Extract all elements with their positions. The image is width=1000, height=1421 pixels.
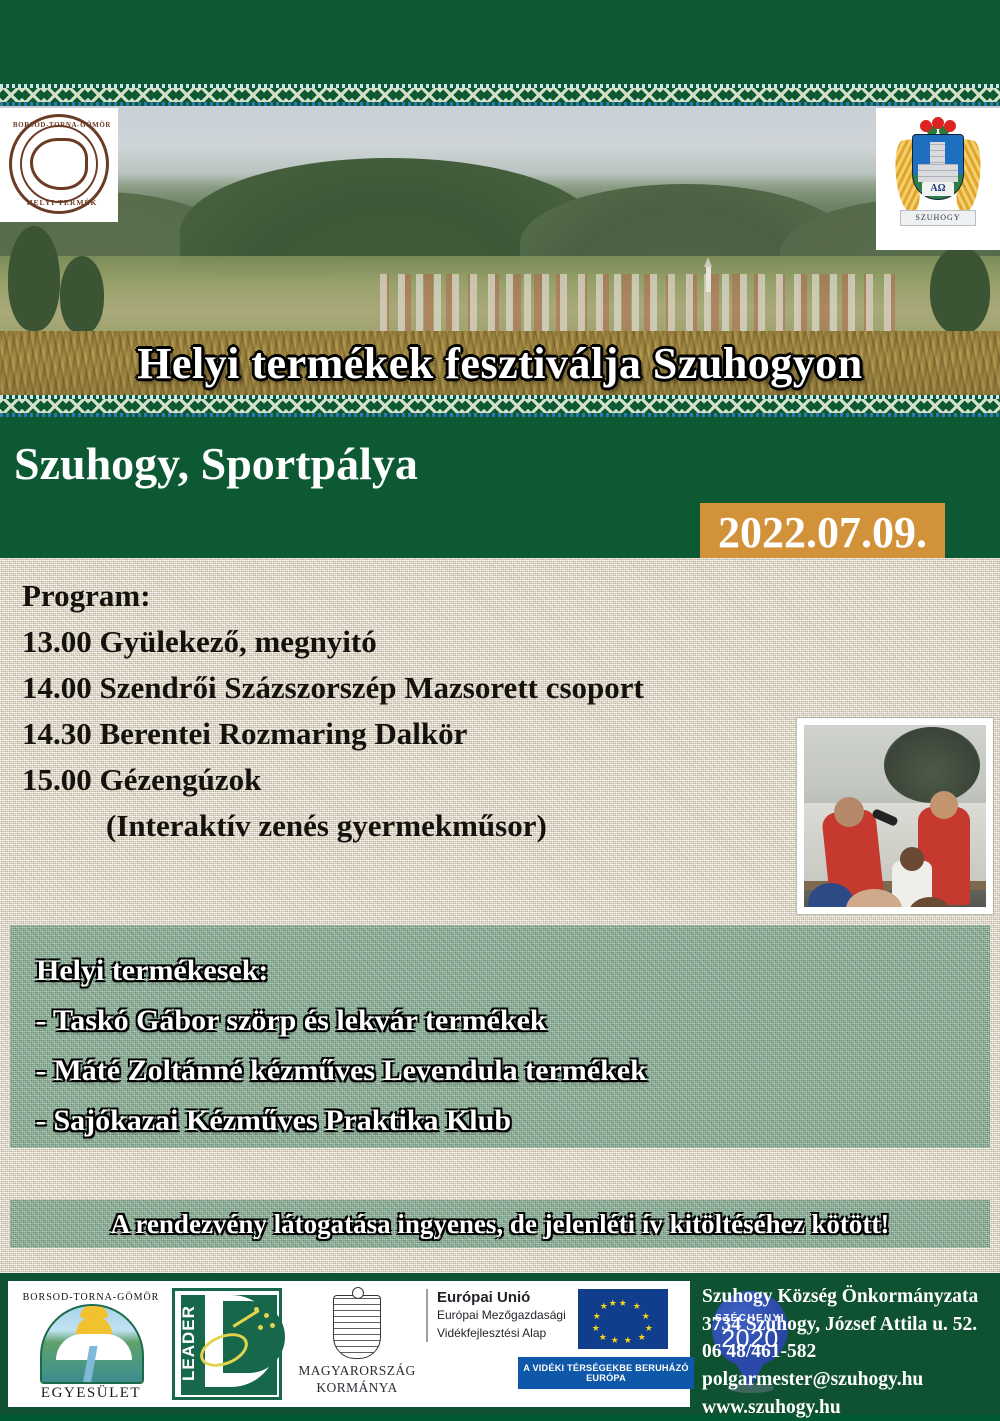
hungary-government-logo: MAGYARORSZÁG KORMÁNYA bbox=[298, 1289, 416, 1399]
seal-bottom-text: HELYI TERMÉK bbox=[12, 198, 112, 207]
eu-line1: Európai Unió bbox=[437, 1289, 566, 1306]
eu-banner-text: A VIDÉKI TÉRSÉGEKBE BERUHÁZÓ EURÓPA bbox=[518, 1357, 694, 1389]
eu-funding-logo: Európai Unió Európai Mezőgazdasági Vidék… bbox=[426, 1289, 694, 1399]
poster-title-band: Helyi termékek fesztiválja Szuhogyon bbox=[0, 331, 1000, 395]
venue-name: Szuhogy, Sportpálya bbox=[14, 437, 418, 490]
btg-name: EGYESÜLET bbox=[16, 1385, 166, 1402]
seal-figure-icon bbox=[30, 138, 88, 190]
eu-line2: Európai Mezőgazdasági bbox=[437, 1306, 566, 1324]
performance-photo bbox=[797, 718, 993, 914]
alpha-omega-book-icon: ΑΩ bbox=[922, 182, 954, 196]
contact-website[interactable]: www.szuhogy.hu bbox=[702, 1394, 994, 1421]
page-title: Helyi termékek fesztiválja Szuhogyon bbox=[137, 338, 863, 389]
program-item: 13.00 Gyülekező, megnyitó bbox=[22, 622, 1000, 662]
event-date-badge: 2022.07.09. bbox=[700, 503, 945, 566]
hungary-gov-line2: KORMÁNYA bbox=[298, 1380, 416, 1397]
leader-wordmark: LEADER bbox=[179, 1297, 201, 1389]
szechenyi-word: SZÉCHENYI bbox=[704, 1313, 796, 1324]
producers-heading: Helyi termékesek: bbox=[36, 951, 990, 991]
program-item: 14.00 Szendrői Százszorszép Mazsorett cs… bbox=[22, 668, 1000, 708]
hungary-gov-line1: MAGYARORSZÁG bbox=[298, 1363, 416, 1380]
producer-item: - Taskó Gábor szörp és lekvár termékek bbox=[36, 1001, 990, 1041]
folk-border-under-title bbox=[0, 395, 1000, 417]
contact-email[interactable]: polgarmester@szuhogy.hu bbox=[702, 1366, 994, 1394]
seal-top-text: BORSOD-TORNA-GÖMÖR bbox=[12, 121, 112, 129]
hungarian-crest-icon bbox=[333, 1295, 381, 1359]
footer-logo-strip: BORSOD-TORNA-GÖMÖR EGYESÜLET LEADER MAG bbox=[8, 1281, 690, 1407]
program-heading: Program: bbox=[22, 576, 1000, 616]
eu-flag-icon: ★ ★ ★ ★ ★ ★ ★ ★ ★ ★ ★ ★ bbox=[578, 1289, 668, 1349]
top-green-margin bbox=[0, 0, 1000, 84]
eu-line3: Vidékfejlesztési Alap bbox=[437, 1324, 566, 1342]
footer: BORSOD-TORNA-GÖMÖR EGYESÜLET LEADER MAG bbox=[0, 1273, 1000, 1415]
leader-logo: LEADER bbox=[172, 1288, 282, 1400]
szuhogy-coat-of-arms: ΑΩ SZUHOGY bbox=[876, 108, 1000, 250]
szechenyi-year: 2020 bbox=[704, 1325, 796, 1354]
venue-band: Szuhogy, Sportpálya 2022.07.09. bbox=[0, 417, 1000, 558]
folk-border-top bbox=[0, 84, 1000, 106]
coat-of-arms-icon: ΑΩ SZUHOGY bbox=[894, 114, 982, 238]
producer-item: - Máté Zoltánné kézműves Levendula termé… bbox=[36, 1051, 990, 1091]
btg-egyesulet-logo: BORSOD-TORNA-GÖMÖR EGYESÜLET bbox=[16, 1288, 166, 1400]
village-landscape-photo bbox=[0, 106, 1000, 331]
producer-item: - Sajókazai Kézműves Praktika Klub bbox=[36, 1101, 990, 1141]
contact-organization: Szuhogy Község Önkormányzata bbox=[702, 1283, 994, 1311]
event-date: 2022.07.09. bbox=[718, 508, 927, 557]
admission-notice-text: A rendezvény látogatása ingyenes, de jel… bbox=[111, 1209, 890, 1240]
admission-notice-band: A rendezvény látogatása ingyenes, de jel… bbox=[10, 1200, 990, 1248]
coat-of-arms-ribbon: SZUHOGY bbox=[900, 210, 976, 226]
helyi-termek-seal-logo: BORSOD-TORNA-GÖMÖR HELYI TERMÉK bbox=[0, 108, 118, 222]
producers-section: Helyi termékesek: - Taskó Gábor szörp és… bbox=[10, 925, 990, 1148]
seal-icon: BORSOD-TORNA-GÖMÖR HELYI TERMÉK bbox=[9, 114, 109, 214]
